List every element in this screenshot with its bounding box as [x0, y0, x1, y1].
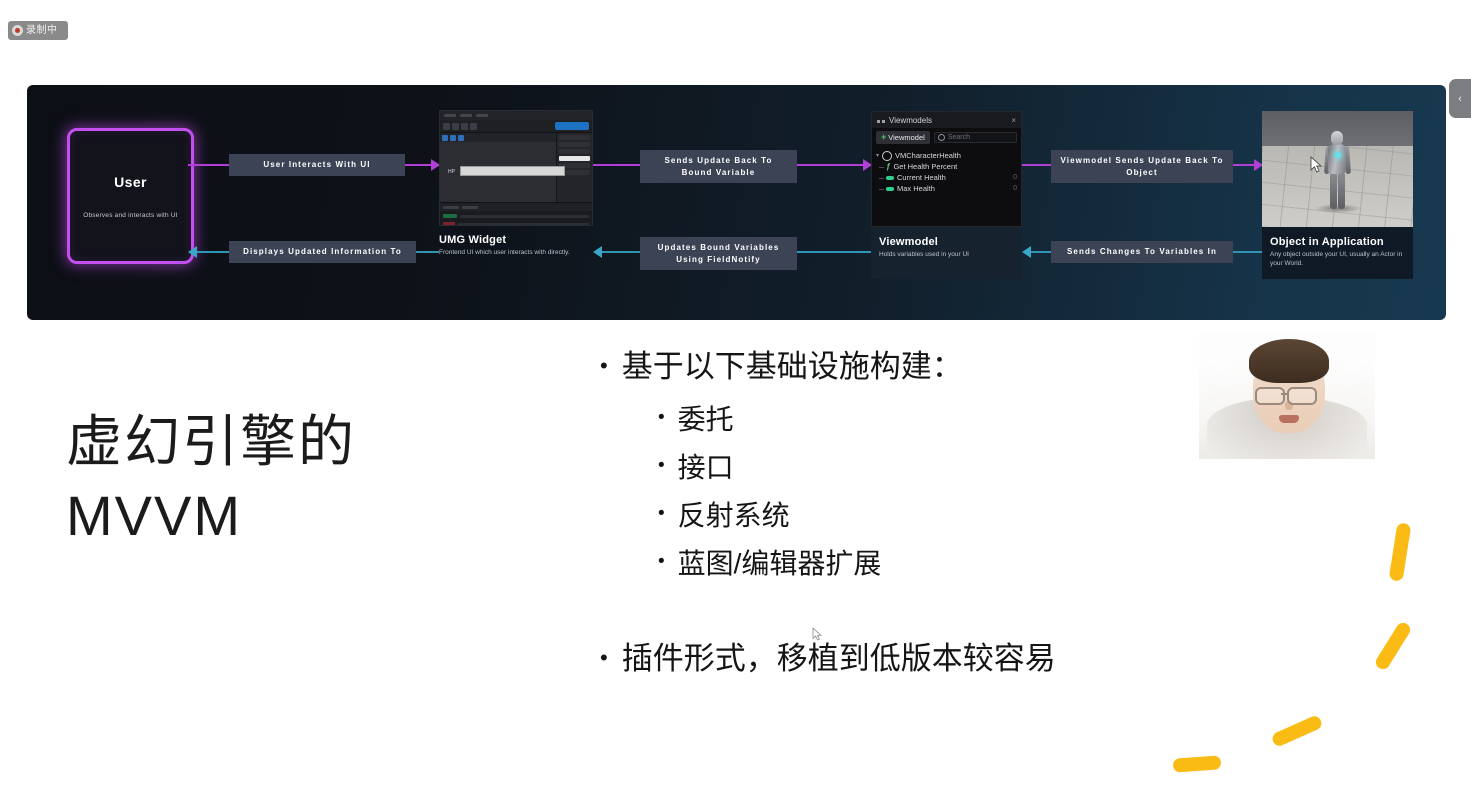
viewmodel-search-input: Search	[934, 132, 1017, 143]
tree-node-root: ▾ VMCharacterHealth	[876, 150, 1017, 161]
bullet-dot: •	[658, 492, 665, 540]
diagram-node-viewmodel: Viewmodels × + Viewmodel Search ▾ VMChar…	[871, 111, 1022, 279]
canvas-toolbar-icon	[450, 135, 456, 141]
health-bar-widget	[460, 166, 565, 176]
tree-root-label: VMCharacterHealth	[895, 151, 961, 160]
details-row-color	[559, 156, 590, 161]
editor-body: HP	[440, 133, 592, 202]
variable-icon	[886, 176, 894, 180]
record-dot-icon	[12, 25, 23, 36]
viewmodel-node-title: Viewmodel	[879, 236, 1014, 248]
webcam-glasses-right	[1287, 387, 1317, 405]
object-node-title: Object in Application	[1270, 236, 1405, 248]
bullet-dot: •	[658, 540, 665, 588]
page-title: 虚幻引擎的 MVVM	[66, 405, 546, 553]
connector-label-displays-updated-information-to: Displays Updated Information To	[229, 241, 416, 263]
class-icon	[882, 151, 892, 161]
tree-item-get-health-percent: ƒ Get Health Percent	[876, 161, 1017, 172]
binding-target-chip	[443, 222, 455, 226]
details-row	[559, 149, 590, 154]
diagram-node-object: Object in Application Any object outside…	[1262, 111, 1413, 279]
sub-bullet-item: • 委托	[658, 396, 1240, 444]
character-chest-light	[1335, 152, 1341, 158]
umg-node-subtitle: Frontend UI which user interacts with di…	[439, 249, 593, 258]
add-viewmodel-button: + Viewmodel	[876, 131, 930, 144]
character-head	[1331, 131, 1343, 145]
sub-bullet-list: • 委托 • 接口 • 反射系统 • 蓝图/编辑器扩展	[658, 396, 1240, 589]
page-title-line2: MVVM	[66, 479, 546, 553]
tree-item-label: Max Health	[897, 184, 935, 193]
connector-label-updates-bound-variables-using-fieldnotify: Updates Bound Variables Using FieldNotif…	[640, 237, 797, 270]
bindings-tab	[462, 206, 478, 209]
titlebar-tab	[476, 114, 488, 117]
binding-source-chip	[443, 214, 457, 218]
webcam-glasses-left	[1255, 387, 1285, 405]
plus-icon: +	[881, 133, 886, 142]
binding-row	[443, 221, 589, 226]
sub-bullet-item: • 反射系统	[658, 492, 1240, 540]
bullet-dot: •	[658, 396, 665, 444]
chevron-down-icon: ▾	[876, 152, 879, 159]
toolbar-icon	[470, 123, 477, 130]
viewport-mouse-cursor	[1310, 156, 1323, 174]
decor-arc-dash	[1373, 620, 1412, 672]
decor-arc-dash	[1270, 714, 1323, 748]
details-row	[559, 135, 590, 140]
bullet-dot: •	[600, 345, 608, 390]
bullet-bottom-text: 插件形式，移植到低版本较容易	[622, 640, 1056, 677]
sub-bullet-text: 蓝图/编辑器扩展	[678, 540, 882, 588]
tree-item-value: 0	[1013, 185, 1017, 192]
add-viewmodel-label: Viewmodel	[888, 133, 925, 142]
binding-detail	[460, 215, 589, 218]
bullet-main: • 基于以下基础设施构建：	[600, 345, 1240, 390]
recording-label: 录制中	[26, 26, 58, 36]
sub-bullet-text: 反射系统	[678, 492, 790, 540]
editor-titlebar	[440, 111, 592, 120]
umg-editor-screenshot: HP	[439, 110, 593, 226]
character-mannequin	[1324, 131, 1350, 209]
sub-bullet-item: • 接口	[658, 444, 1240, 492]
toolbar-icon	[461, 123, 468, 130]
connector-arrow-object-to-viewmodel	[1022, 246, 1031, 258]
character-leg-left	[1330, 172, 1337, 209]
viewmodel-caption: Viewmodel Holds variables used in your U…	[871, 227, 1022, 279]
sub-bullet-text: 委托	[678, 396, 734, 444]
canvas-toolbar-icon	[458, 135, 464, 141]
webcam-person-mouth	[1279, 415, 1299, 423]
compile-button	[555, 122, 589, 130]
tree-item-label: Current Health	[897, 173, 946, 182]
connector-label-sends-update-back-to-bound-variable: Sends Update Back To Bound Variable	[640, 150, 797, 183]
binding-detail	[458, 223, 589, 226]
tree-item-label: Get Health Percent	[893, 162, 957, 171]
function-icon: ƒ	[886, 162, 890, 171]
diagram-node-user: User Observes and interacts with UI	[67, 128, 194, 264]
bindings-tab	[443, 206, 459, 209]
bullet-bottom: • 插件形式，移植到低版本较容易	[600, 640, 1056, 677]
webcam-overlay	[1199, 331, 1375, 459]
bindings-toolbar	[440, 203, 592, 211]
collapse-panel-button[interactable]: ‹	[1449, 79, 1471, 118]
details-row	[559, 142, 590, 147]
widget-canvas: HP	[440, 133, 556, 202]
toolbar-icon	[443, 123, 450, 130]
sub-bullet-item: • 蓝图/编辑器扩展	[658, 540, 1240, 588]
recording-badge: 录制中	[8, 21, 68, 40]
binding-row	[443, 213, 589, 219]
mouse-cursor	[812, 627, 823, 642]
bullet-dot: •	[600, 640, 608, 677]
decor-arc-dash	[1173, 755, 1222, 772]
canvas-toolbar-icon	[442, 135, 448, 141]
user-node-subtitle: Observes and interacts with UI	[83, 212, 178, 219]
toolbar-icon	[452, 123, 459, 130]
object-node-subtitle: Any object outside your UI, usually an A…	[1270, 251, 1405, 269]
character-torso	[1328, 144, 1346, 174]
viewport-screenshot	[1262, 111, 1413, 227]
tree-item-value: 0	[1013, 174, 1017, 181]
bullet-main-text: 基于以下基础设施构建：	[622, 345, 963, 390]
viewmodels-toolrow: + Viewmodel Search	[872, 128, 1021, 147]
search-placeholder: Search	[948, 134, 970, 141]
diagram-canvas: User Observes and interacts with UI User…	[27, 85, 1446, 320]
bindings-panel	[440, 202, 592, 226]
viewmodels-tabbar: Viewmodels ×	[872, 112, 1021, 128]
object-caption: Object in Application Any object outside…	[1262, 227, 1413, 279]
viewmodel-node-subtitle: Holds variables used in your UI	[879, 251, 1014, 260]
editor-toolbar	[440, 120, 592, 133]
connector-label-sends-changes-to-variables-in: Sends Changes To Variables In	[1051, 241, 1233, 263]
viewmodel-tree: ▾ VMCharacterHealth ƒ Get Health Percent…	[872, 147, 1021, 197]
page-title-line1: 虚幻引擎的	[66, 405, 546, 479]
sub-bullet-text: 接口	[678, 444, 734, 492]
canvas-toolbar	[440, 133, 556, 142]
chevron-left-icon: ‹	[1458, 93, 1462, 105]
search-icon	[938, 134, 945, 141]
connector-arrow-umg-to-user	[188, 246, 197, 258]
connector-arrow-viewmodel-to-umg	[593, 246, 602, 258]
variable-icon	[886, 187, 894, 191]
viewmodels-icon	[877, 116, 885, 124]
tree-item-current-health: Current Health 0	[876, 172, 1017, 183]
viewmodels-tab-label: Viewmodels	[889, 116, 932, 125]
titlebar-tab	[460, 114, 472, 117]
connector-label-viewmodel-sends-update-back-to-object: Viewmodel Sends Update Back To Object	[1051, 150, 1233, 183]
viewmodels-panel: Viewmodels × + Viewmodel Search ▾ VMChar…	[871, 111, 1022, 227]
connector-label-user-interacts-with-ui: User Interacts With UI	[229, 154, 405, 176]
bullet-dot: •	[658, 444, 665, 492]
tree-item-max-health: Max Health 0	[876, 183, 1017, 194]
webcam-person-hair	[1249, 339, 1329, 383]
decor-arc-dash	[1389, 522, 1412, 581]
diagram-node-umg-widget: HP	[439, 110, 593, 295]
webcam-glasses-bridge	[1281, 393, 1287, 395]
bullet-list: • 基于以下基础设施构建： • 委托 • 接口 • 反射系统 • 蓝图/编辑器扩…	[600, 345, 1240, 589]
character-leg-right	[1338, 172, 1345, 209]
user-node-title: User	[114, 174, 147, 190]
hp-label: HP	[448, 169, 455, 175]
close-icon: ×	[1011, 116, 1016, 125]
titlebar-tab	[444, 114, 456, 117]
mvvm-diagram-panel: User Observes and interacts with UI User…	[27, 85, 1446, 320]
umg-node-title: UMG Widget	[439, 234, 593, 246]
